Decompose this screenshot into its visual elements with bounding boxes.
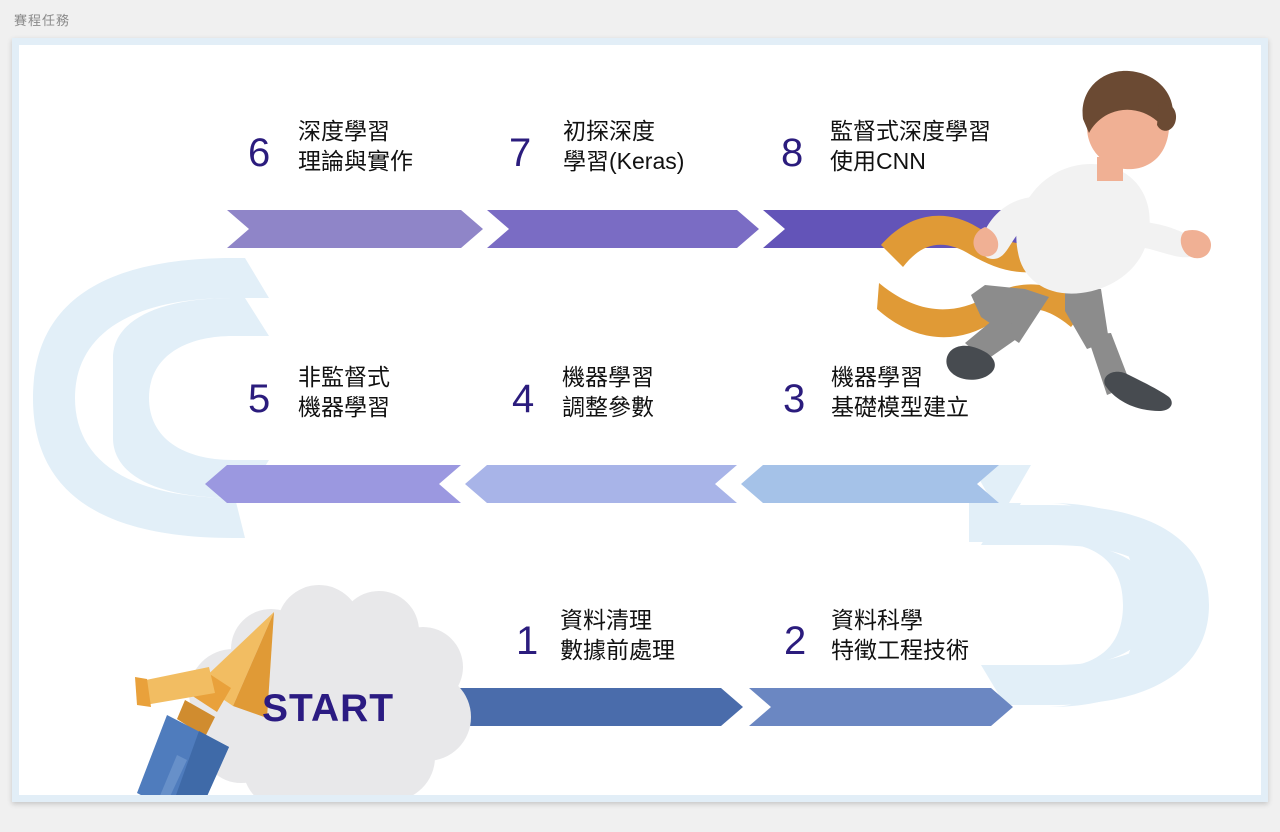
step-caption-2-line2: 特徵工程技術 [831,635,969,665]
middle-row-arrows [205,465,999,503]
step-caption-6-line1: 深度學習 [298,116,413,146]
step-caption-2-line1: 資料科學 [831,605,969,635]
step-caption-2: 資料科學 特徵工程技術 [831,605,969,666]
step-caption-5-line2: 機器學習 [298,392,390,422]
arrow-step-7 [487,210,759,248]
step-number-3: 3 [783,379,805,419]
step-caption-3-line1: 機器學習 [831,362,969,392]
arrow-step-6 [227,210,483,248]
step-number-2: 2 [784,621,806,661]
step-caption-4: 機器學習 調整參數 [562,362,654,423]
step-caption-6-line2: 理論與實作 [298,146,413,176]
step-number-4: 4 [512,379,534,419]
right-u-turn-connector [969,465,1209,707]
step-caption-1-line1: 資料清理 [560,605,675,635]
step-caption-7: 初探深度 學習(Keras) [563,116,684,177]
arrow-step-3 [741,465,999,503]
step-number-5: 5 [248,379,270,419]
step-number-6: 6 [248,133,270,173]
step-caption-1: 資料清理 數據前處理 [560,605,675,666]
step-caption-8-line1: 監督式深度學習 [830,116,991,146]
start-label: START [262,687,394,731]
step-caption-4-line1: 機器學習 [562,362,654,392]
step-caption-8-line2: 使用CNN [830,146,991,176]
step-caption-5-line1: 非監督式 [298,362,390,392]
slide-page: 賽程任務 [0,0,1280,832]
bottom-row-arrows [411,688,1013,726]
step-caption-3: 機器學習 基礎模型建立 [831,362,969,423]
step-caption-1-line2: 數據前處理 [560,635,675,665]
step-caption-5: 非監督式 機器學習 [298,362,390,423]
step-caption-3-line2: 基礎模型建立 [831,392,969,422]
step-caption-8: 監督式深度學習 使用CNN [830,116,991,177]
step-number-8: 8 [781,133,803,173]
step-caption-7-line2: 學習(Keras) [563,146,684,176]
step-number-7: 7 [509,133,531,173]
slide-canvas: 6 深度學習 理論與實作 7 初探深度 學習(Keras) 8 監督式深度學習 … [12,38,1268,802]
arrow-step-5 [205,465,461,503]
arrow-step-4 [465,465,737,503]
document-title: 賽程任務 [14,10,70,29]
step-caption-4-line2: 調整參數 [562,392,654,422]
step-number-1: 1 [516,621,538,661]
step-caption-6: 深度學習 理論與實作 [298,116,413,177]
step-caption-7-line1: 初探深度 [563,116,684,146]
arrow-step-2 [749,688,1013,726]
